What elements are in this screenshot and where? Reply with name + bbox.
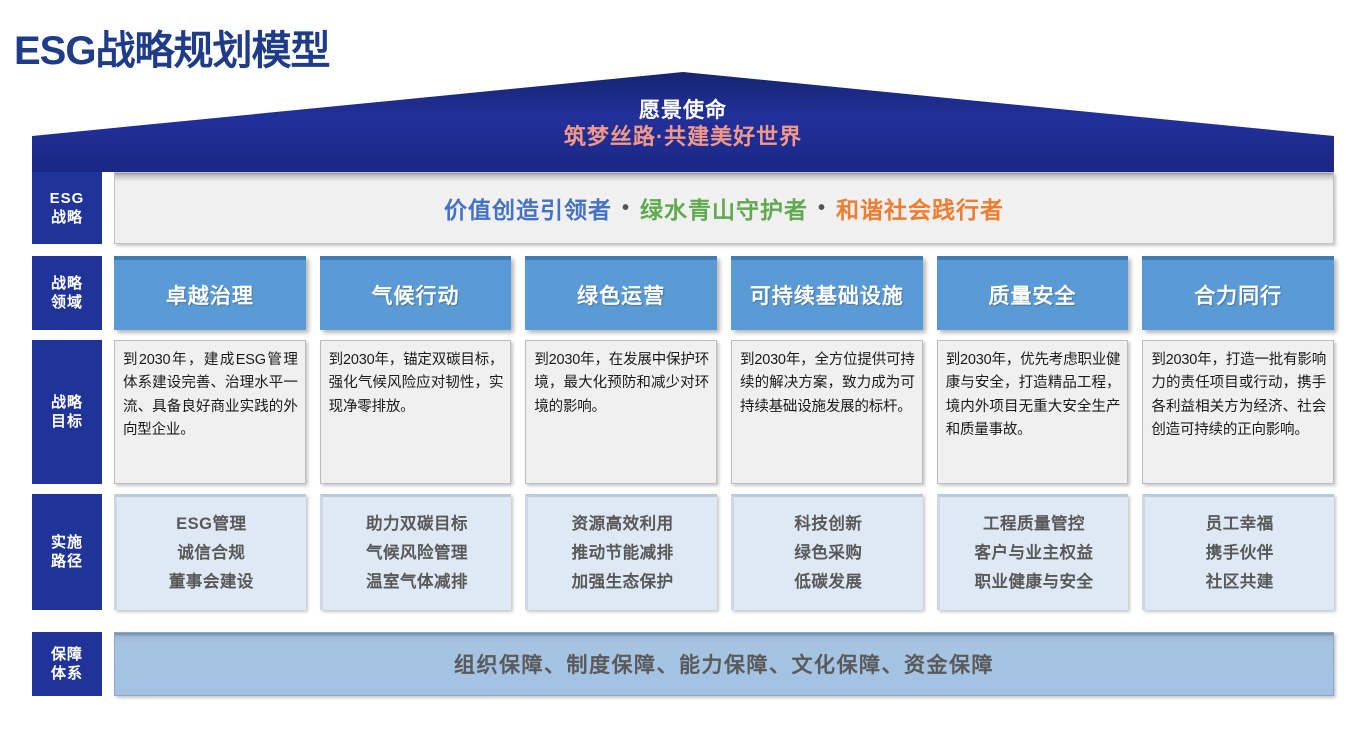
esg-segment-value-creation: 价值创造引领者 xyxy=(444,191,612,225)
path-line: 推动节能减排 xyxy=(572,541,674,566)
row-label-strategic-domain: 战略 领域 xyxy=(32,256,102,330)
esg-strategy-banner: 价值创造引领者 • 绿水青山守护者 • 和谐社会践行者 xyxy=(114,172,1334,244)
domain-card[interactable]: 绿色运营 xyxy=(525,256,717,330)
path-card[interactable]: 工程质量管控 客户与业主权益 职业健康与安全 xyxy=(937,494,1129,610)
path-line: 资源高效利用 xyxy=(572,512,674,537)
separator-dot-icon: • xyxy=(622,197,630,220)
row-body-strategic-domain: 卓越治理 气候行动 绿色运营 可持续基础设施 质量安全 合力同行 xyxy=(114,256,1334,330)
row-label-line1: 实施 xyxy=(51,533,83,552)
path-line: ESG管理 xyxy=(176,512,246,537)
path-card[interactable]: 资源高效利用 推动节能减排 加强生态保护 xyxy=(525,494,717,610)
esg-segment-green-guardian: 绿水青山守护者 xyxy=(640,191,808,225)
vision-slogan: 筑梦丝路·共建美好世界 xyxy=(32,124,1334,151)
domain-card[interactable]: 卓越治理 xyxy=(114,256,306,330)
path-line: 工程质量管控 xyxy=(983,512,1085,537)
path-line: 员工幸福 xyxy=(1206,512,1274,537)
path-card[interactable]: 员工幸福 携手伙伴 社区共建 xyxy=(1142,494,1334,610)
path-line: 低碳发展 xyxy=(794,570,862,595)
domain-card[interactable]: 质量安全 xyxy=(937,256,1129,330)
row-esg-strategy: ESG 战略 价值创造引领者 • 绿水青山守护者 • 和谐社会践行者 xyxy=(32,172,1334,244)
row-label-implementation-path: 实施 路径 xyxy=(32,494,102,610)
path-line: 社区共建 xyxy=(1206,570,1274,595)
esg-segment-harmonious-society: 和谐社会践行者 xyxy=(836,191,1004,225)
path-line: 科技创新 xyxy=(794,512,862,537)
row-strategic-goal: 战略 目标 到2030年，建成ESG管理体系建设完善、治理水平一流、具备良好商业… xyxy=(32,340,1334,484)
path-line: 温室气体减排 xyxy=(366,570,468,595)
row-label-line2: 战略 xyxy=(51,208,83,227)
row-label-line2: 体系 xyxy=(51,664,83,683)
row-label-line1: 保障 xyxy=(51,645,83,664)
row-label-line1: ESG xyxy=(50,189,85,208)
path-line: 加强生态保护 xyxy=(572,570,674,595)
row-label-line2: 目标 xyxy=(51,412,83,431)
vision-mission-roof: 愿景使命 筑梦丝路·共建美好世界 xyxy=(32,72,1334,172)
path-line: 客户与业主权益 xyxy=(975,541,1094,566)
row-guarantee-system: 保障 体系 组织保障、制度保障、能力保障、文化保障、资金保障 xyxy=(32,632,1334,696)
page-title: ESG战略规划模型 xyxy=(14,18,329,76)
row-body-esg-strategy: 价值创造引领者 • 绿水青山守护者 • 和谐社会践行者 xyxy=(114,172,1334,244)
separator-dot-icon: • xyxy=(818,197,826,220)
path-line: 职业健康与安全 xyxy=(975,570,1094,595)
domain-card[interactable]: 气候行动 xyxy=(320,256,512,330)
row-body-implementation-path: ESG管理 诚信合规 董事会建设 助力双碳目标 气候风险管理 温室气体减排 资源… xyxy=(114,494,1334,610)
row-label-guarantee-system: 保障 体系 xyxy=(32,632,102,696)
goal-card: 到2030年，优先考虑职业健康与安全，打造精品工程，境内外项目无重大安全生产和质… xyxy=(937,340,1129,484)
path-card[interactable]: 助力双碳目标 气候风险管理 温室气体减排 xyxy=(320,494,512,610)
row-label-line1: 战略 xyxy=(51,274,83,293)
path-card[interactable]: 科技创新 绿色采购 低碳发展 xyxy=(731,494,923,610)
path-line: 董事会建设 xyxy=(169,570,254,595)
path-line: 诚信合规 xyxy=(177,541,245,566)
row-label-line1: 战略 xyxy=(51,393,83,412)
goal-card: 到2030年，建成ESG管理体系建设完善、治理水平一流、具备良好商业实践的外向型… xyxy=(114,340,306,484)
path-line: 绿色采购 xyxy=(794,541,862,566)
row-strategic-domain: 战略 领域 卓越治理 气候行动 绿色运营 可持续基础设施 质量安全 合力同行 xyxy=(32,256,1334,330)
path-line: 助力双碳目标 xyxy=(366,512,468,537)
goal-card: 到2030年，全方位提供可持续的解决方案，致力成为可持续基础设施发展的标杆。 xyxy=(731,340,923,484)
goal-card: 到2030年，打造一批有影响力的责任项目或行动，携手各利益相关方为经济、社会创造… xyxy=(1142,340,1334,484)
roof-text-block: 愿景使命 筑梦丝路·共建美好世界 xyxy=(32,98,1334,150)
row-label-line2: 路径 xyxy=(51,552,83,571)
guarantee-system-banner: 组织保障、制度保障、能力保障、文化保障、资金保障 xyxy=(114,632,1334,696)
vision-heading: 愿景使命 xyxy=(32,98,1334,124)
goal-card: 到2030年，锚定双碳目标，强化气候风险应对韧性，实现净零排放。 xyxy=(320,340,512,484)
path-card[interactable]: ESG管理 诚信合规 董事会建设 xyxy=(114,494,306,610)
goal-card: 到2030年，在发展中保护环境，最大化预防和减少对环境的影响。 xyxy=(525,340,717,484)
path-line: 携手伙伴 xyxy=(1206,541,1274,566)
row-label-esg-strategy: ESG 战略 xyxy=(32,172,102,244)
row-body-guarantee-system: 组织保障、制度保障、能力保障、文化保障、资金保障 xyxy=(114,632,1334,696)
path-line: 气候风险管理 xyxy=(366,541,468,566)
row-body-strategic-goal: 到2030年，建成ESG管理体系建设完善、治理水平一流、具备良好商业实践的外向型… xyxy=(114,340,1334,484)
row-label-strategic-goal: 战略 目标 xyxy=(32,340,102,484)
row-implementation-path: 实施 路径 ESG管理 诚信合规 董事会建设 助力双碳目标 气候风险管理 温室气… xyxy=(32,494,1334,610)
domain-card[interactable]: 合力同行 xyxy=(1142,256,1334,330)
row-label-line2: 领域 xyxy=(51,293,83,312)
domain-card[interactable]: 可持续基础设施 xyxy=(731,256,923,330)
